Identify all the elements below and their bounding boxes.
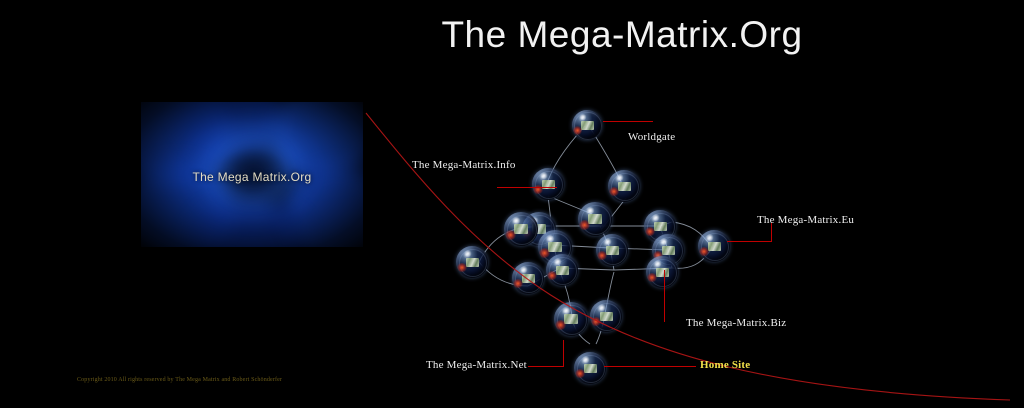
connector-eu-h	[727, 241, 772, 242]
nebula-image: The Mega Matrix.Org	[141, 102, 363, 247]
label-biz: The Mega-Matrix.Biz	[686, 317, 786, 329]
label-home-site: Home Site	[700, 359, 750, 371]
node-sphere[interactable]	[456, 246, 488, 278]
label-worldgate: Worldgate	[628, 131, 675, 143]
node-sphere[interactable]	[554, 302, 588, 336]
node-sphere[interactable]	[546, 254, 578, 286]
connector-info	[497, 187, 557, 188]
copyright-notice: Copyright 2010 All rights reserved by Th…	[77, 377, 282, 383]
node-sphere[interactable]	[574, 352, 606, 384]
node-sphere[interactable]	[572, 110, 602, 140]
connector-net-h	[528, 366, 564, 367]
node-sphere[interactable]	[698, 230, 730, 262]
label-eu: The Mega-Matrix.Eu	[757, 214, 854, 226]
node-sphere[interactable]	[532, 168, 564, 200]
connector-worldgate	[603, 121, 653, 122]
label-net: The Mega-Matrix.Net	[426, 359, 527, 371]
node-sphere[interactable]	[578, 202, 612, 236]
node-sphere[interactable]	[512, 262, 544, 294]
node-sphere[interactable]	[646, 256, 678, 288]
node-sphere[interactable]	[608, 170, 640, 202]
connector-biz	[664, 270, 665, 322]
node-sphere[interactable]	[590, 300, 622, 332]
image-caption: The Mega Matrix.Org	[141, 170, 363, 184]
slide-canvas: The Mega-Matrix.Org The Mega Matrix.Org	[0, 0, 1024, 408]
connector-net-v	[563, 340, 564, 367]
node-sphere[interactable]	[504, 212, 538, 246]
label-info: The Mega-Matrix.Info	[412, 159, 516, 171]
connector-home-site	[604, 366, 696, 367]
node-sphere[interactable]	[596, 234, 628, 266]
